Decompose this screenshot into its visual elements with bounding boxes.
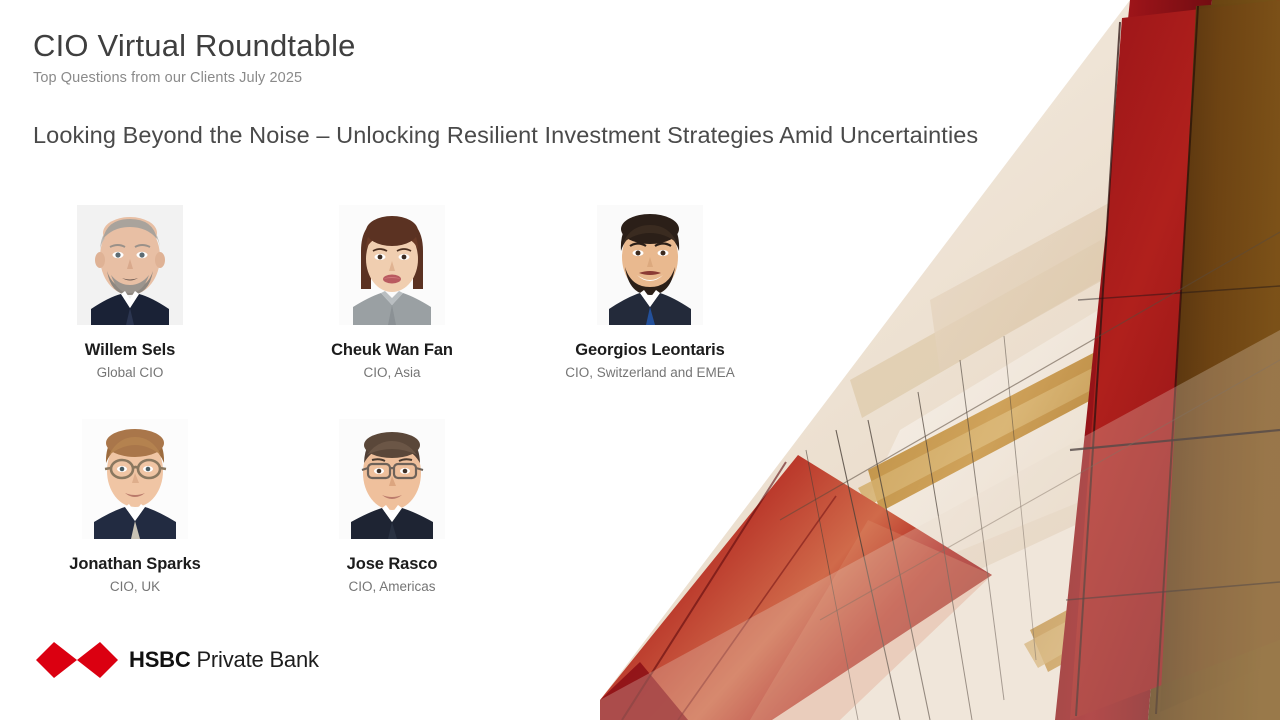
logo-wordmark: HSBC Private Bank	[129, 647, 319, 673]
abstract-architecture-image	[600, 0, 1280, 720]
portrait-jose-rasco	[339, 419, 445, 539]
logo-descriptor: Private Bank	[191, 647, 319, 672]
slide-root: CIO Virtual Roundtable Top Questions fro…	[0, 0, 1280, 720]
portrait-jonathan-sparks	[82, 419, 188, 539]
headline-text: Looking Beyond the Noise – Unlocking Res…	[33, 122, 978, 149]
speaker-card-willem-sels: Willem Sels Global CIO	[0, 205, 260, 380]
speaker-name: Jose Rasco	[262, 555, 522, 574]
page-subtitle: Top Questions from our Clients July 2025	[33, 70, 356, 86]
portrait-willem-sels	[77, 205, 183, 325]
speaker-name: Jonathan Sparks	[5, 555, 265, 574]
speaker-name: Cheuk Wan Fan	[262, 341, 522, 360]
slide-header: CIO Virtual Roundtable Top Questions fro…	[33, 28, 356, 86]
logo-brand: HSBC	[129, 647, 191, 672]
speaker-card-cheuk-wan-fan: Cheuk Wan Fan CIO, Asia	[262, 205, 522, 380]
portrait-cheuk-wan-fan	[339, 205, 445, 325]
speaker-card-jose-rasco: Jose Rasco CIO, Americas	[262, 419, 522, 594]
speaker-card-jonathan-sparks: Jonathan Sparks CIO, UK	[5, 419, 265, 594]
page-title: CIO Virtual Roundtable	[33, 28, 356, 64]
hsbc-private-bank-logo: HSBC Private Bank	[36, 642, 319, 678]
speaker-role: CIO, UK	[5, 579, 265, 594]
hsbc-hexagon-icon	[36, 642, 118, 678]
speaker-name: Willem Sels	[0, 341, 260, 360]
speaker-role: CIO, Asia	[262, 365, 522, 380]
speaker-role: Global CIO	[0, 365, 260, 380]
speaker-role: CIO, Americas	[262, 579, 522, 594]
